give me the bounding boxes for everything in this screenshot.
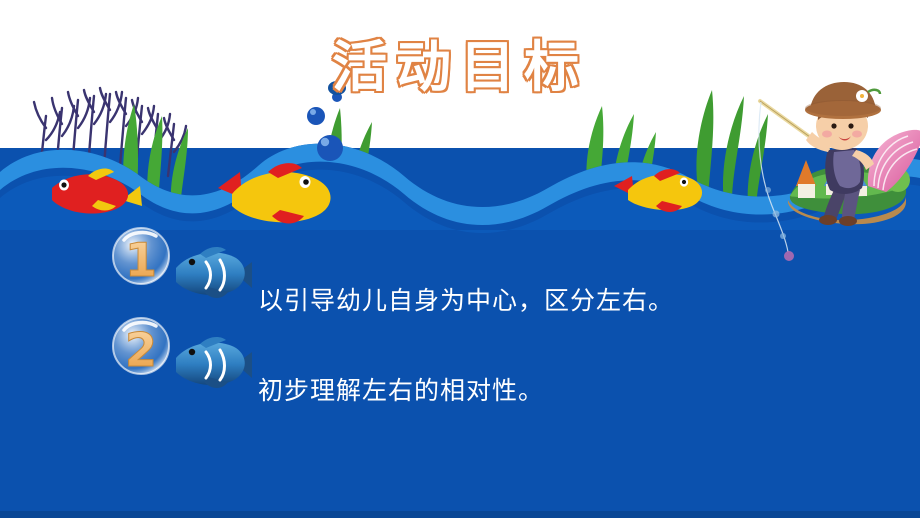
page-title: 活动目标 [0,22,920,102]
bullet-text-1: 以引导幼儿自身为中心，区分左右。 [258,281,674,317]
bullet-number-2: 2 [125,323,157,377]
water-bottom-edge [0,511,920,518]
bullet-number-1: 1 [125,233,157,287]
bullet-text-2: 初步理解左右的相对性。 [258,371,544,407]
slide-canvas: 1 2 活动目标 以引导幼儿自身为中心，区分左右。 [0,0,920,518]
